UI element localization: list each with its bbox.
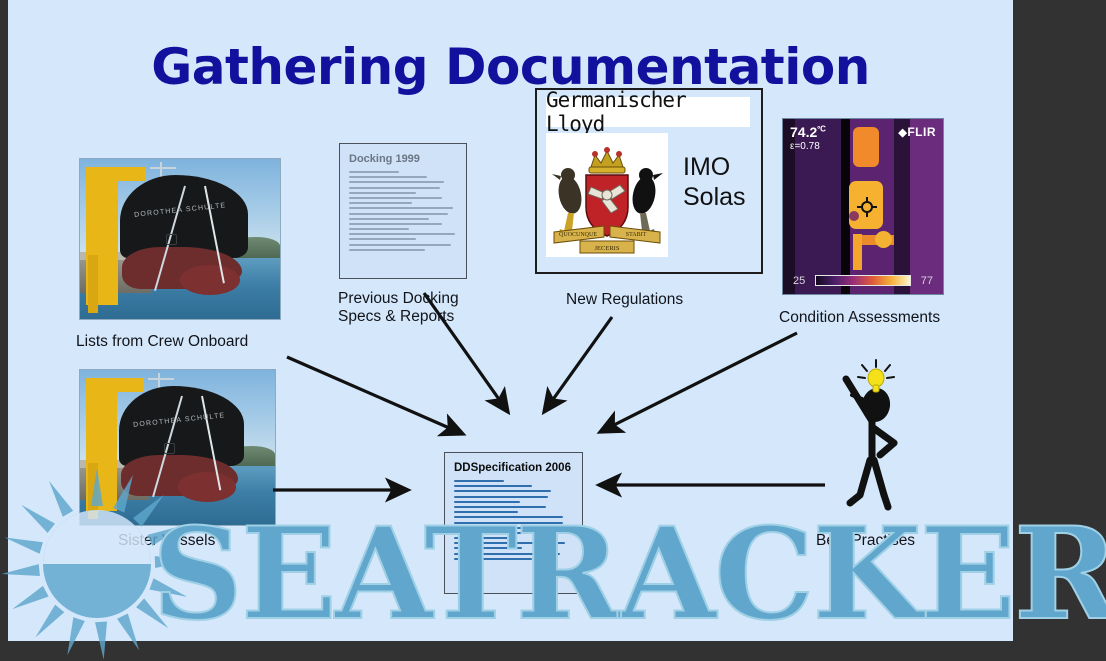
crest-motto-right: STABIT [626, 232, 647, 238]
anchor-icon [164, 443, 175, 454]
crosshair-icon [857, 197, 877, 217]
document-text-line [349, 233, 455, 235]
document-text-line [454, 480, 504, 482]
dock-crane-arm [86, 167, 146, 181]
best-practises-caption: Best Practises [816, 532, 915, 550]
flir-logo-icon: ◆FLIR [898, 125, 936, 139]
document-text-line [454, 542, 565, 544]
standards-label: IMO Solas [683, 152, 746, 212]
document-title: DDSpecification 2006 [454, 462, 582, 474]
thermal-scale-max: 77 [921, 275, 933, 287]
document-text-line [349, 218, 429, 220]
thermal-hot-spot [853, 234, 862, 270]
document-ddspecification-2006[interactable]: DDSpecification 2006 [444, 452, 583, 594]
document-text-line [349, 207, 453, 209]
coat-of-arms-crest: QUOCUNQUE STABIT JECERIS [546, 133, 668, 257]
docking-doc-caption: Previous Docking Specs & Reports [338, 290, 459, 326]
ship-photo-top: DOROTHEA SCHULTE [79, 158, 281, 320]
document-title: Docking 1999 [349, 153, 466, 165]
thermal-scale: 25 77 [793, 274, 933, 287]
thermal-emissivity: ε=0.78 [790, 141, 820, 152]
document-text-line [349, 181, 444, 183]
arrow-regulations-to-spec [544, 317, 612, 412]
document-text-line [454, 522, 563, 524]
document-text-line [454, 558, 532, 560]
ship-photo-bottom-caption: Sister Vessels [118, 532, 215, 550]
document-text-line [349, 197, 442, 199]
document-text-line [349, 176, 427, 178]
ship-photo-top-caption: Lists from Crew Onboard [76, 333, 248, 351]
thermal-band [894, 119, 910, 294]
thermal-temperature-unit: ºC [817, 124, 826, 133]
mast-crossbar [150, 167, 176, 169]
thermal-hot-spot [875, 231, 892, 248]
thermal-color-bar [815, 275, 911, 286]
document-text-line [349, 249, 425, 251]
document-text-line [454, 490, 551, 492]
anchor-icon [166, 234, 177, 245]
thermal-temperature-value: 74.2 [790, 124, 817, 140]
crest-motto-left: QUOCUNQUE [559, 232, 597, 238]
thermal-image[interactable]: 74.2ºC ε=0.78 ◆FLIR 25 77 [782, 118, 944, 295]
dock-crane-leg [88, 255, 98, 313]
classification-society-box[interactable]: Germanischer Lloyd [535, 88, 763, 274]
document-text-line [349, 171, 399, 173]
document-text-line [454, 501, 520, 503]
best-practises-figure [820, 355, 930, 515]
document-text-line [349, 187, 440, 189]
thermal-band [910, 119, 943, 294]
document-text-line [349, 192, 416, 194]
document-text-line [454, 516, 563, 518]
document-text-line [454, 527, 537, 529]
document-text-line [349, 228, 409, 230]
page-title: Gathering Documentation [8, 38, 1013, 96]
thermal-hot-spot [853, 127, 879, 167]
thermal-caption: Condition Assessments [779, 309, 940, 327]
document-body-lines [454, 480, 582, 560]
society-name: Germanischer Lloyd [546, 97, 750, 127]
document-text-line [454, 537, 515, 539]
thermal-scale-min: 25 [793, 275, 805, 287]
arrow-crew-to-spec [287, 357, 463, 434]
document-text-line [454, 485, 532, 487]
document-docking-1999[interactable]: Docking 1999 [339, 143, 467, 279]
crest-motto-bottom: JECERIS [595, 245, 620, 252]
document-text-line [454, 506, 546, 508]
presentation-slide: Gathering Documentation DOROTHEA SCHULTE… [8, 0, 1013, 641]
bulbous-bow [180, 265, 240, 295]
document-text-line [349, 238, 416, 240]
document-text-line [349, 213, 448, 215]
document-text-line [349, 244, 451, 246]
document-text-line [454, 532, 553, 534]
document-text-line [454, 547, 522, 549]
document-text-line [454, 496, 548, 498]
thermal-temperature-readout: 74.2ºC [790, 124, 826, 140]
document-text-line [349, 223, 442, 225]
document-body-lines [349, 171, 466, 251]
bulbous-bow [178, 472, 237, 501]
document-text-line [454, 511, 518, 513]
ship-photo-bottom: DOROTHEA SCHULTE [79, 369, 276, 526]
mast-crossbar [148, 378, 173, 380]
document-text-line [349, 202, 412, 204]
screenshot-root: Gathering Documentation DOROTHEA SCHULTE… [0, 0, 1106, 661]
lightbulb-icon [858, 360, 894, 392]
regulations-caption: New Regulations [566, 291, 683, 309]
document-text-line [454, 553, 560, 555]
dock-crane-arm [86, 378, 145, 392]
flir-brand-label: FLIR [907, 125, 936, 139]
arrow-condition-to-spec [600, 333, 797, 432]
dock-crane-leg [88, 463, 98, 519]
